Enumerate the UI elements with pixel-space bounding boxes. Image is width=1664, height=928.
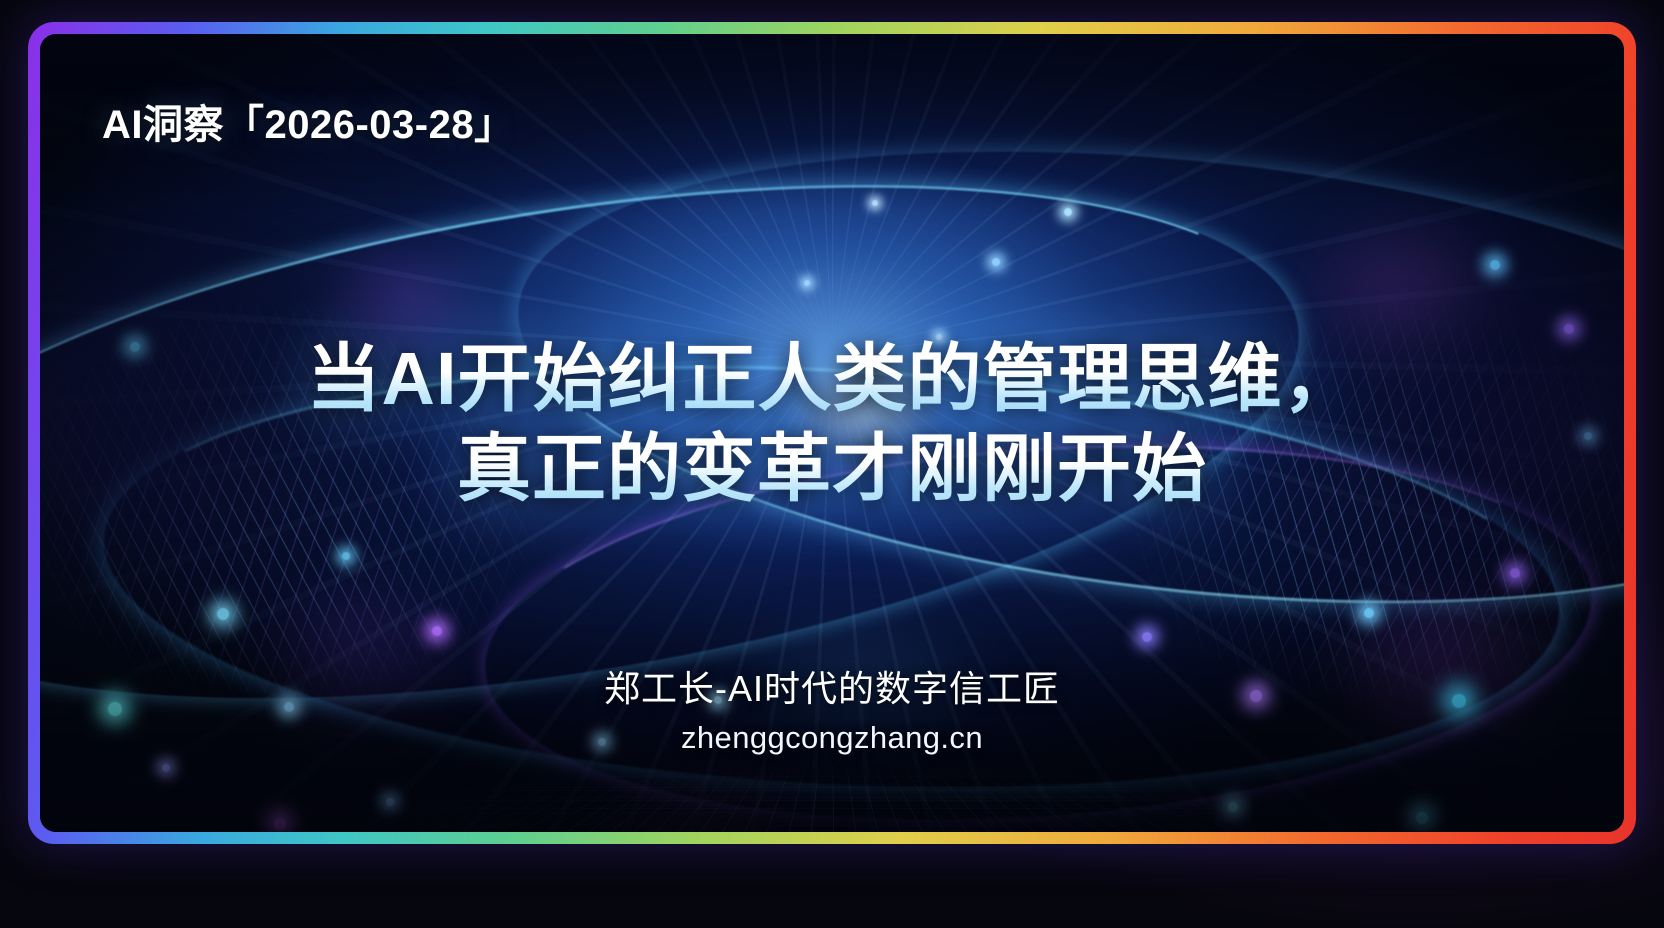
headline-line-2: 真正的变革才刚刚开始	[120, 424, 1544, 514]
poster-canvas: AI洞察「2026-03-28」 当AI开始纠正人类的管理思维， 真正的变革才刚…	[0, 0, 1664, 928]
author-byline: 郑工长-AI时代的数字信工匠	[40, 660, 1624, 712]
footer-block: 郑工长-AI时代的数字信工匠 zhenggcongzhang.cn	[40, 660, 1624, 756]
text-content-layer: AI洞察「2026-03-28」 当AI开始纠正人类的管理思维， 真正的变革才刚…	[40, 34, 1624, 832]
poster-stage: AI洞察「2026-03-28」 当AI开始纠正人类的管理思维， 真正的变革才刚…	[40, 34, 1624, 832]
website-url: zhenggcongzhang.cn	[40, 720, 1624, 756]
date-eyebrow: AI洞察「2026-03-28」	[102, 92, 515, 150]
headline-block: 当AI开始纠正人类的管理思维， 真正的变革才刚刚开始	[40, 334, 1624, 515]
headline-line-1: 当AI开始纠正人类的管理思维，	[120, 334, 1544, 424]
gradient-border-frame: AI洞察「2026-03-28」 当AI开始纠正人类的管理思维， 真正的变革才刚…	[28, 22, 1636, 844]
